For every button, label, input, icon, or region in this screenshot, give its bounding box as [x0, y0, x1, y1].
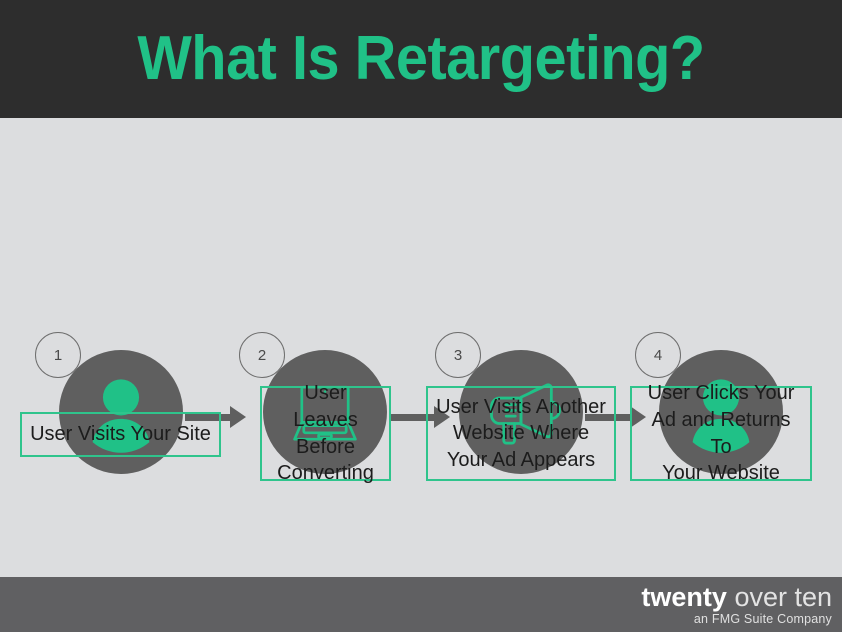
caption-2-line-3: Converting: [277, 460, 374, 487]
caption-box-2: User Leaves Before Converting: [260, 386, 391, 481]
brand-logo: twenty over ten an FMG Suite Company: [641, 583, 832, 626]
step-4-number-badge: 4: [635, 332, 681, 378]
step-1-number-badge: 1: [35, 332, 81, 378]
header-banner: What Is Retargeting?: [0, 0, 842, 118]
brand-name-bold: twenty: [641, 582, 727, 612]
caption-box-4: User Clicks Your Ad and Returns To Your …: [630, 386, 812, 481]
footer-bar: twenty over ten an FMG Suite Company: [0, 577, 842, 632]
caption-3-line-2: Website Where: [453, 420, 589, 447]
caption-box-3: User Visits Another Website Where Your A…: [426, 386, 616, 481]
step-2-number: 2: [258, 347, 266, 364]
caption-3-line-3: Your Ad Appears: [447, 447, 595, 474]
caption-4-line-1: User Clicks Your: [648, 380, 795, 407]
page-title: What Is Retargeting?: [137, 28, 704, 90]
brand-wordmark: twenty over ten: [641, 583, 832, 611]
step-3-number-badge: 3: [435, 332, 481, 378]
caption-3-line-1: User Visits Another: [436, 394, 606, 421]
step-1-number: 1: [54, 347, 62, 364]
caption-2-line-1: User Leaves: [270, 380, 381, 433]
caption-1-text: User Visits Your Site: [30, 421, 211, 448]
retargeting-flow-diagram: 1 2: [0, 118, 842, 577]
arrow-right-icon: [230, 406, 246, 428]
step-4-number: 4: [654, 347, 662, 364]
caption-2-line-2: Before: [296, 434, 355, 461]
brand-name-light: over ten: [734, 582, 832, 612]
step-3-number: 3: [454, 347, 462, 364]
step-2-number-badge: 2: [239, 332, 285, 378]
brand-tagline: an FMG Suite Company: [641, 612, 832, 626]
caption-4-line-2: Ad and Returns To: [640, 407, 802, 460]
caption-4-line-3: Your Website: [662, 460, 780, 487]
caption-box-1: User Visits Your Site: [20, 412, 221, 457]
